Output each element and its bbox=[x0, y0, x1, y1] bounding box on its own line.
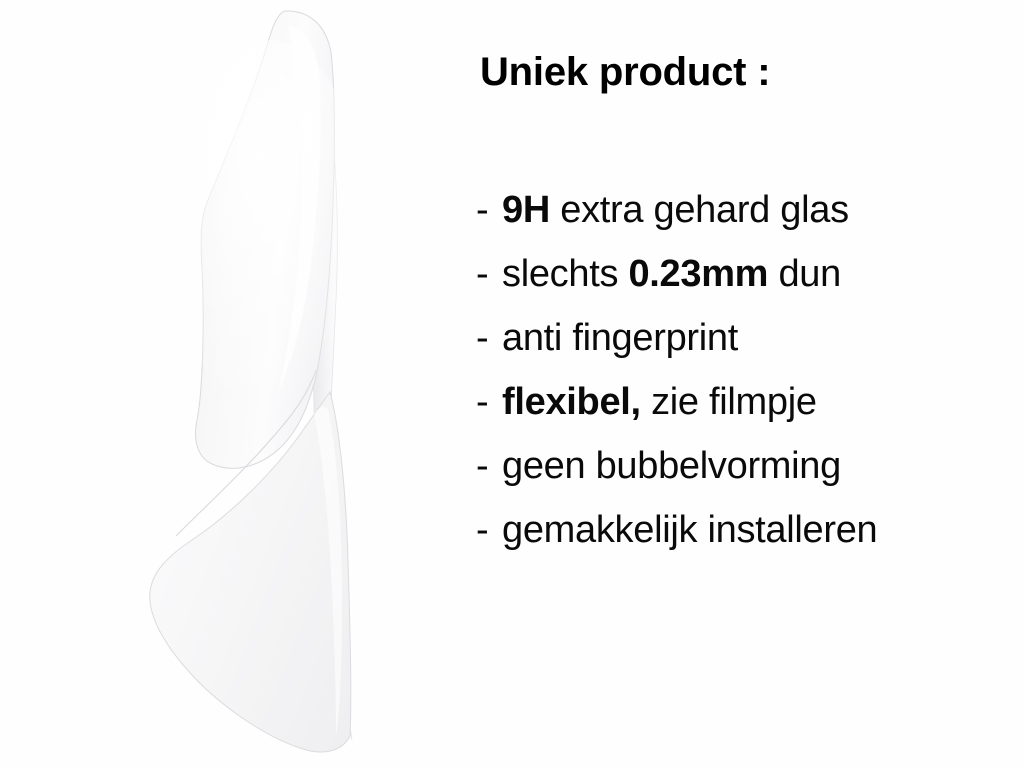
feature-emphasis: flexibel, bbox=[502, 381, 641, 423]
list-item: -flexibel, zie filmpje bbox=[476, 370, 877, 434]
feature-text: geen bubbelvorming bbox=[502, 445, 841, 487]
feature-text: extra gehard glas bbox=[550, 189, 849, 231]
feature-emphasis: 9H bbox=[502, 189, 550, 231]
feature-list: -9H extra gehard glas -slechts 0.23mm du… bbox=[476, 178, 877, 562]
bullet-dash: - bbox=[476, 178, 502, 242]
list-item: -gemakkelijk installeren bbox=[476, 498, 877, 562]
page-title: Uniek product : bbox=[480, 50, 770, 95]
bullet-dash: - bbox=[476, 434, 502, 498]
bullet-dash: - bbox=[476, 498, 502, 562]
feature-text: slechts bbox=[502, 253, 628, 295]
list-item: -anti fingerprint bbox=[476, 306, 877, 370]
list-item: -slechts 0.23mm dun bbox=[476, 242, 877, 306]
list-item: -9H extra gehard glas bbox=[476, 178, 877, 242]
feature-text: gemakkelijk installeren bbox=[502, 509, 877, 551]
bullet-dash: - bbox=[476, 306, 502, 370]
list-item: -geen bubbelvorming bbox=[476, 434, 877, 498]
product-image bbox=[0, 0, 460, 768]
feature-text: zie filmpje bbox=[641, 381, 817, 423]
glass-gloss-highlight bbox=[174, 40, 366, 420]
feature-text: anti fingerprint bbox=[502, 317, 738, 359]
feature-text: dun bbox=[768, 253, 841, 295]
bullet-dash: - bbox=[476, 370, 502, 434]
marketing-copy: Uniek product : -9H extra gehard glas -s… bbox=[470, 0, 1024, 768]
bullet-dash: - bbox=[476, 242, 502, 306]
product-info-banner: Uniek product : -9H extra gehard glas -s… bbox=[0, 0, 1024, 768]
feature-emphasis: 0.23mm bbox=[628, 253, 768, 295]
